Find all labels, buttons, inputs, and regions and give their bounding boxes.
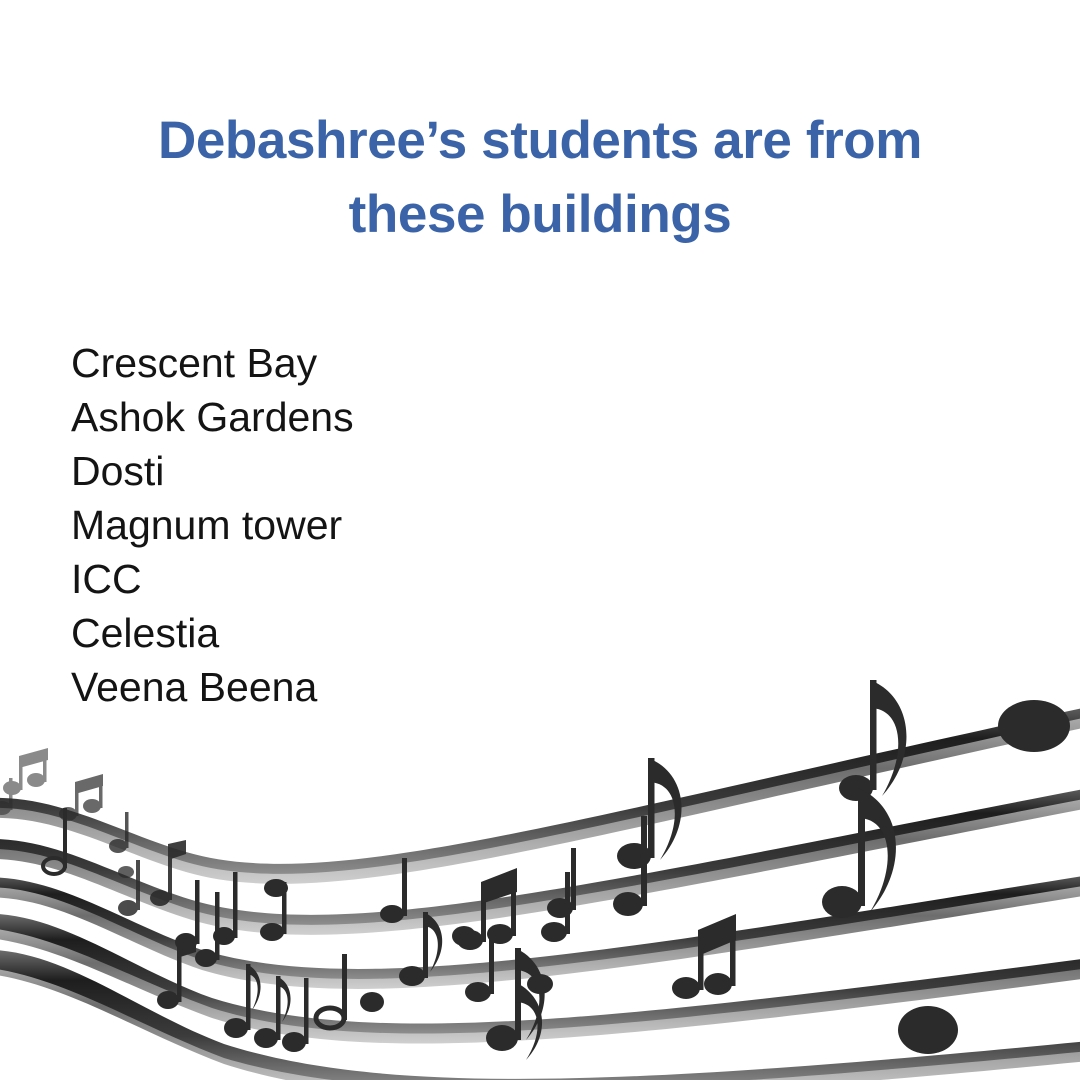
note-quarter-mid-f xyxy=(547,848,576,918)
note-group xyxy=(0,680,1070,1060)
note-eighth-right-a xyxy=(613,816,647,916)
note-beamed-pair-a xyxy=(457,868,517,950)
note-eighth-up-c xyxy=(399,912,442,986)
list-item: ICC xyxy=(71,552,501,606)
staff-line-1 xyxy=(0,700,1080,884)
note-eighth-lower-big xyxy=(486,948,545,1060)
note-quarter-up-e xyxy=(541,872,570,942)
note-quarter-left-a xyxy=(109,812,129,853)
note-half-open-left xyxy=(43,808,67,874)
note-eighth-pair-left xyxy=(59,774,103,821)
note-beamed-pair-b xyxy=(672,914,736,999)
buildings-list: Crescent Bay Ashok Gardens Dosti Magnum … xyxy=(71,336,501,706)
title-line-1: Debashree’s students are from xyxy=(90,104,990,178)
page-title: Debashree’s students are from these buil… xyxy=(90,104,990,252)
note-quarter-midleft-a xyxy=(175,880,200,951)
note-head-right-bottom xyxy=(898,1006,958,1054)
note-quarter-low-c xyxy=(282,978,309,1052)
note-head-mid-a xyxy=(264,879,288,897)
musical-staff-illustration xyxy=(0,640,1080,1080)
list-item: Veena Beena xyxy=(71,660,501,706)
list-item: Ashok Gardens xyxy=(71,390,501,444)
note-eighth-low-a xyxy=(224,964,261,1038)
note-half-open-lower xyxy=(316,954,347,1028)
note-quarter-left-b xyxy=(118,860,140,916)
note-head-mid-e xyxy=(118,866,134,878)
note-head-mid-b xyxy=(360,992,384,1012)
note-head-mid-d xyxy=(527,974,553,994)
list-item: Crescent Bay xyxy=(71,336,501,390)
note-distant-cluster xyxy=(0,748,48,815)
note-head-right-top xyxy=(998,700,1070,752)
note-eighth-pair-midleft xyxy=(150,840,186,906)
note-quarter-up-d xyxy=(465,930,494,1002)
note-quarter-up-b xyxy=(380,858,407,923)
note-eighth-low-b xyxy=(254,976,291,1048)
note-eighth-pair-midleft-lower xyxy=(157,936,196,1009)
note-eighth-top-big xyxy=(617,758,682,869)
list-item: Magnum tower xyxy=(71,498,501,552)
note-quarter-up-a xyxy=(260,882,287,941)
list-item: Celestia xyxy=(71,606,501,660)
staff-line-3 xyxy=(0,870,1080,989)
note-eighth-right-b xyxy=(839,680,906,801)
staff-line-5 xyxy=(0,950,1080,1080)
title-line-2: these buildings xyxy=(90,178,990,252)
list-item: Dosti xyxy=(71,444,501,498)
note-quarter-midleft-c xyxy=(213,872,238,945)
staff-line-2 xyxy=(0,782,1080,935)
note-eighth-right-c xyxy=(822,788,896,918)
poster-canvas: Debashree’s students are from these buil… xyxy=(0,0,1080,1080)
note-head-mid-c xyxy=(452,926,476,946)
note-quarter-midleft-b xyxy=(195,892,220,967)
staff-line-4 xyxy=(0,914,1080,1044)
